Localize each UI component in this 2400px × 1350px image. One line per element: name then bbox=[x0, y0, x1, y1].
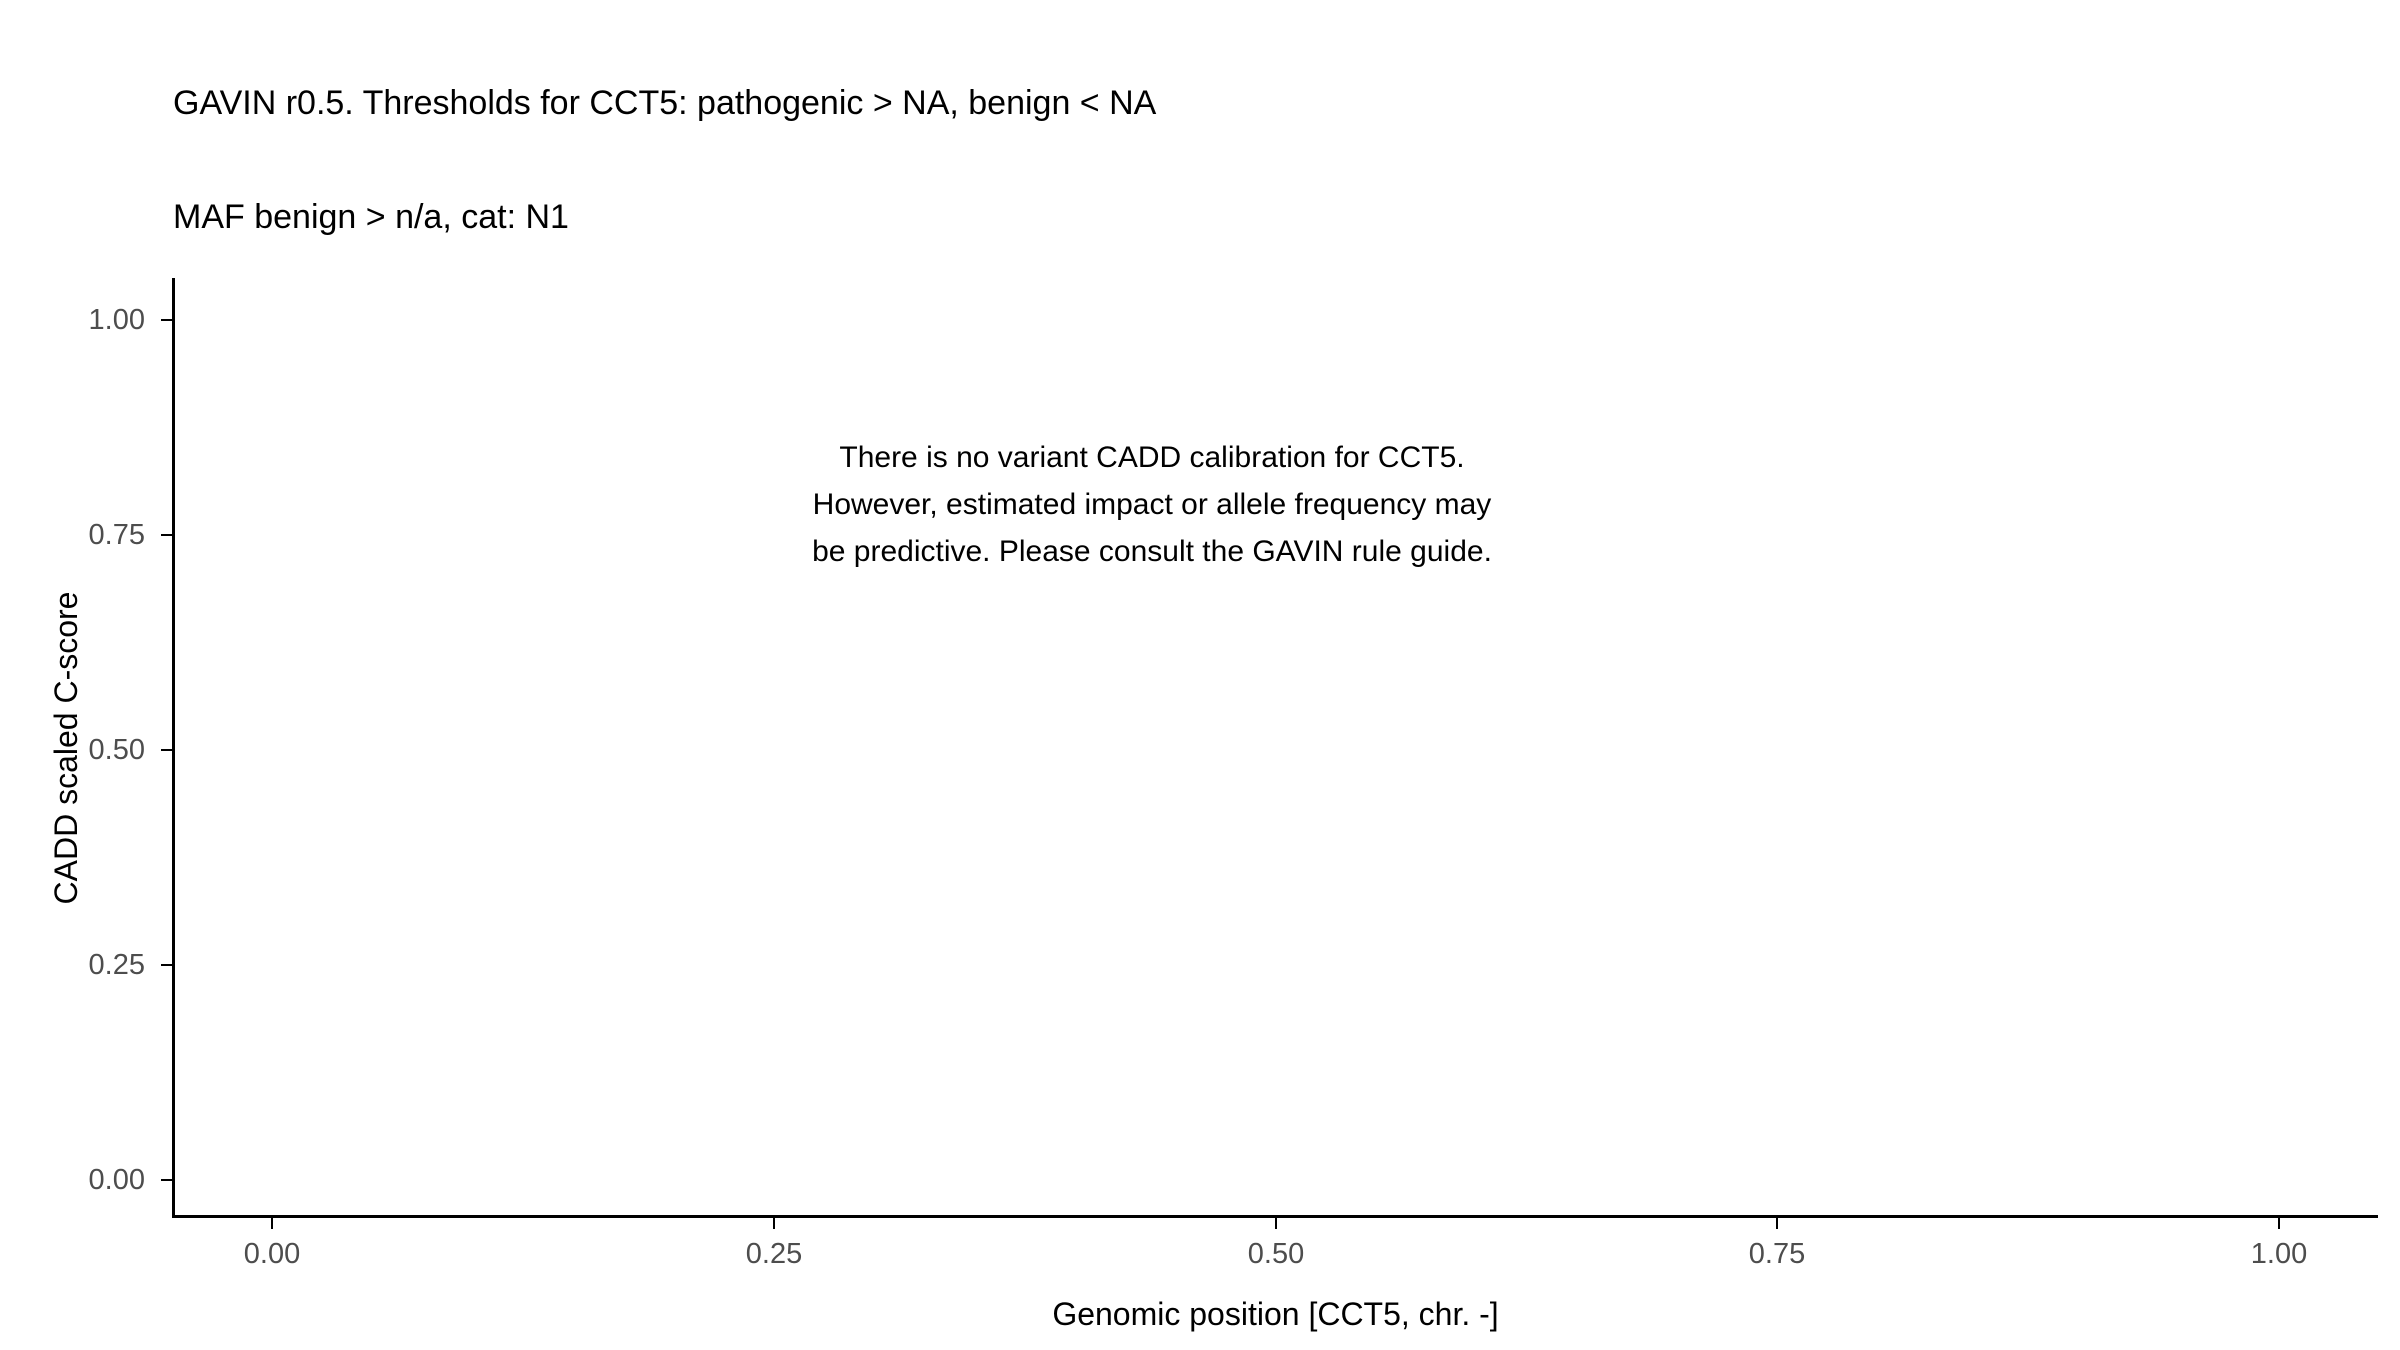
x-axis-tick bbox=[271, 1218, 273, 1229]
no-calibration-annotation: There is no variant CADD calibration for… bbox=[452, 434, 1852, 575]
y-axis-tick bbox=[161, 1179, 172, 1181]
annotation-line-1: There is no variant CADD calibration for… bbox=[452, 434, 1852, 481]
y-axis-tick bbox=[161, 964, 172, 966]
y-axis-tick bbox=[161, 534, 172, 536]
x-axis-tick-label: 0.75 bbox=[1697, 1240, 1857, 1269]
y-axis-title: CADD scaled C-score bbox=[44, 278, 88, 1218]
plot-title-line-2: MAF benign > n/a, cat: N1 bbox=[173, 198, 2273, 236]
y-axis-tick bbox=[161, 319, 172, 321]
y-axis-line bbox=[172, 278, 175, 1218]
x-axis-tick bbox=[2278, 1218, 2280, 1229]
y-axis-tick bbox=[161, 749, 172, 751]
plot-title-line-1: GAVIN r0.5. Thresholds for CCT5: pathoge… bbox=[173, 84, 2273, 122]
x-axis-tick-label: 1.00 bbox=[2199, 1240, 2359, 1269]
x-axis-tick-label: 0.25 bbox=[694, 1240, 854, 1269]
plot-canvas: GAVIN r0.5. Thresholds for CCT5: pathoge… bbox=[0, 0, 2400, 1350]
x-axis-tick-label: 0.50 bbox=[1196, 1240, 1356, 1269]
x-axis-tick-label: 0.00 bbox=[192, 1240, 352, 1269]
x-axis-tick bbox=[1776, 1218, 1778, 1229]
annotation-line-2: However, estimated impact or allele freq… bbox=[452, 481, 1852, 528]
annotation-line-3: be predictive. Please consult the GAVIN … bbox=[452, 528, 1852, 575]
x-axis-tick bbox=[1275, 1218, 1277, 1229]
x-axis-tick bbox=[773, 1218, 775, 1229]
x-axis-title: Genomic position [CCT5, chr. -] bbox=[173, 1295, 2378, 1333]
plot-panel bbox=[173, 278, 2378, 1215]
